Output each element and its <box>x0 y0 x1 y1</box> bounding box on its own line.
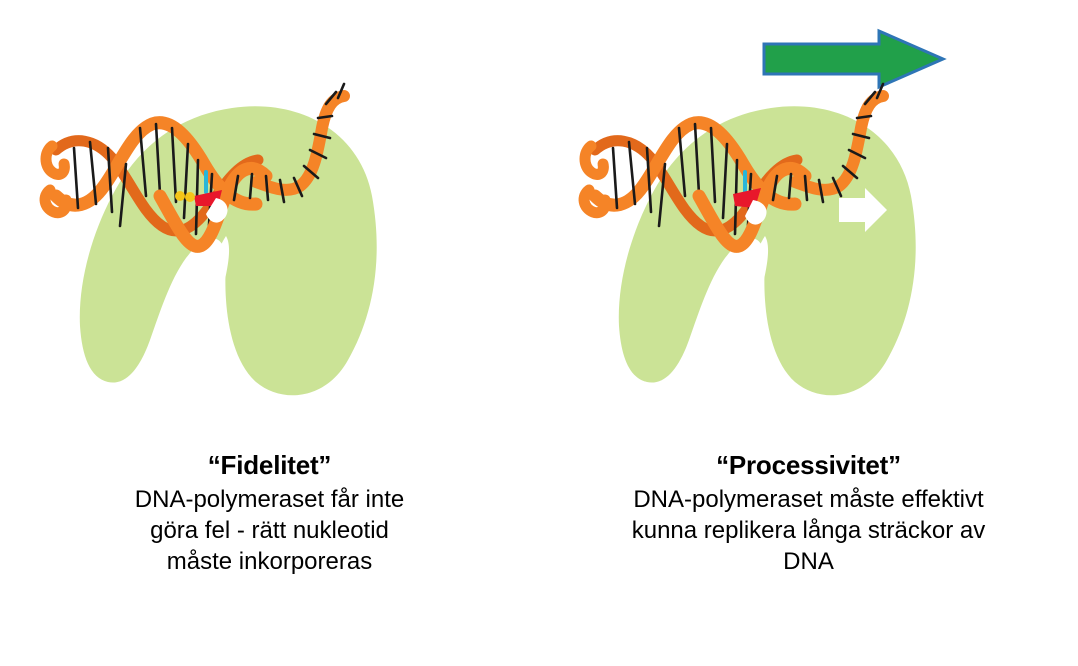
caption-fidelity: “Fidelitet” DNA-polymeraset får inte gör… <box>0 448 539 577</box>
caption-body-processivity: DNA-polymeraset måste effektivt kunna re… <box>539 484 1078 577</box>
slide-canvas: “Fidelitet” DNA-polymeraset får inte gör… <box>0 0 1078 666</box>
illustration-fidelity <box>0 0 539 440</box>
caption-processivity: “Processivitet” DNA-polymeraset måste ef… <box>539 448 1078 577</box>
caption-line: måste inkorporeras <box>28 546 511 577</box>
caption-body-fidelity: DNA-polymeraset får inte göra fel - rätt… <box>0 484 539 577</box>
caption-line: kunna replikera långa sträckor av <box>567 515 1050 546</box>
panel-processivity: “Processivitet” DNA-polymeraset måste ef… <box>539 0 1078 666</box>
panel-fidelity: “Fidelitet” DNA-polymeraset får inte gör… <box>0 0 539 666</box>
caption-line: DNA <box>567 546 1050 577</box>
caption-line: DNA-polymeraset måste effektivt <box>567 484 1050 515</box>
caption-line: DNA-polymeraset får inte <box>28 484 511 515</box>
caption-line: göra fel - rätt nukleotid <box>28 515 511 546</box>
caption-title-fidelity: “Fidelitet” <box>0 448 539 482</box>
illustration-processivity <box>539 0 1078 440</box>
caption-title-processivity: “Processivitet” <box>539 448 1078 482</box>
